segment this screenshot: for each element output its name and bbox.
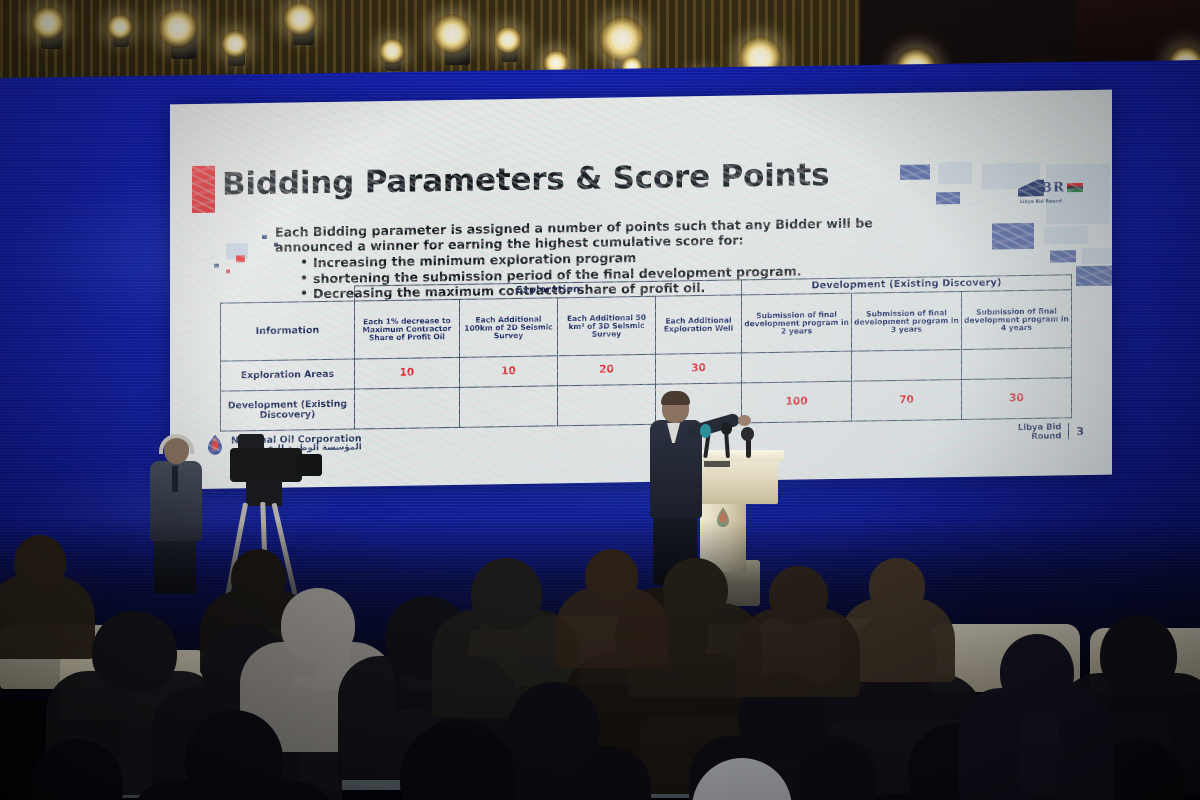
stage-light [107, 14, 133, 40]
table-row-label: Exploration Areas [221, 359, 355, 391]
table-column-header: Each Additional 50 km² of 3D Seismic Sur… [558, 296, 656, 356]
operator-tie [172, 466, 178, 492]
stage-light [599, 16, 645, 62]
stage-light [158, 8, 198, 48]
audience-member-head [92, 611, 177, 694]
audience-member-head [1100, 615, 1177, 696]
table-cell-empty [460, 386, 558, 428]
slide-page-marker: Libya Bid Round 3 [1018, 422, 1084, 442]
speaker-hair [661, 391, 690, 405]
camera-lens [296, 454, 322, 476]
audience-member-head [585, 549, 639, 603]
lbr-logo-text: BR [1041, 180, 1065, 195]
table-cell-score: 10 [354, 358, 459, 390]
slide-title: Bidding Parameters & Score Points [222, 157, 829, 203]
decor-rect-4 [936, 192, 960, 204]
table-cell-score: 10 [460, 356, 558, 388]
microphone-head-2 [721, 422, 732, 435]
table-cell-empty [354, 388, 459, 430]
stage-light [432, 14, 472, 54]
table-cell-empty [742, 351, 852, 383]
decor-rect-7 [1044, 226, 1088, 245]
stage-light [221, 30, 249, 58]
table-cell-score: 30 [656, 353, 742, 384]
speaker-hand [738, 415, 751, 426]
table-column-header: Each 1% decrease to Maximum Contractor S… [354, 300, 459, 360]
lbr-logo-tagline: Libya Bid Round [1020, 199, 1062, 205]
audience-member-head [869, 558, 924, 614]
title-accent-bar [192, 166, 215, 213]
decor-dot-red-1 [236, 255, 245, 262]
stage-light [379, 38, 405, 64]
audience-member-head [1000, 634, 1074, 710]
audience-member-head [471, 558, 542, 630]
stage-light [494, 26, 522, 54]
audience-member-head [663, 558, 728, 621]
page-marker-divider [1068, 424, 1069, 440]
headphones-icon [159, 434, 194, 454]
table-cell-empty [852, 350, 962, 382]
decor-dot-blue-2 [262, 235, 267, 239]
decor-rect-10 [1076, 266, 1112, 287]
table-cell-empty [558, 384, 656, 426]
table-column-header: Information [221, 301, 355, 361]
decor-rect-2 [938, 162, 972, 185]
table-column-header: Submission of final development program … [961, 290, 1071, 350]
decor-rect-9 [1082, 248, 1112, 264]
table-column-header: Each Additional Exploration Well [656, 295, 742, 354]
lbr-logo: BR Libya Bid Round [1018, 170, 1090, 205]
audience-member-head [14, 535, 66, 591]
table-cell-score: 100 [742, 381, 852, 423]
camera-body [230, 448, 302, 482]
audience-member-head [769, 566, 827, 625]
table-column-header: Submission of final development program … [852, 292, 962, 352]
audience-member-head [231, 549, 286, 607]
audience-member-head [281, 588, 355, 662]
decor-dot-blue-1 [214, 264, 219, 268]
audience-area [0, 520, 1200, 800]
microphone-head-1 [700, 424, 711, 438]
decor-rect-1 [900, 164, 930, 179]
stage-light [31, 6, 65, 40]
table-column-header: Each Additional 100km of 2D Seismic Surv… [460, 298, 558, 358]
table-cell-score: 20 [558, 354, 656, 386]
page-marker-label: Libya Bid Round [1018, 422, 1061, 441]
table-cell-score: 30 [961, 378, 1071, 420]
microphone-head-3 [741, 427, 754, 441]
table-cell-empty [961, 348, 1071, 380]
page-marker-line-2: Round [1018, 432, 1061, 442]
screenshot-root: Bidding Parameters & Score Points BR Lib… [0, 0, 1200, 800]
table-row-label: Development (Existing Discovery) [221, 389, 355, 431]
decor-dot-red-2 [226, 269, 230, 273]
audience-member-head [185, 710, 283, 800]
audience-member-head [508, 682, 600, 772]
decor-rect-8 [1050, 250, 1076, 262]
stage-light [283, 2, 317, 36]
libya-flag-icon [1067, 183, 1083, 192]
page-number: 3 [1076, 425, 1084, 438]
table-cell-score: 70 [852, 380, 962, 422]
table-column-header: Submission of final development program … [742, 293, 852, 353]
lbr-logo-mark [1018, 179, 1044, 196]
